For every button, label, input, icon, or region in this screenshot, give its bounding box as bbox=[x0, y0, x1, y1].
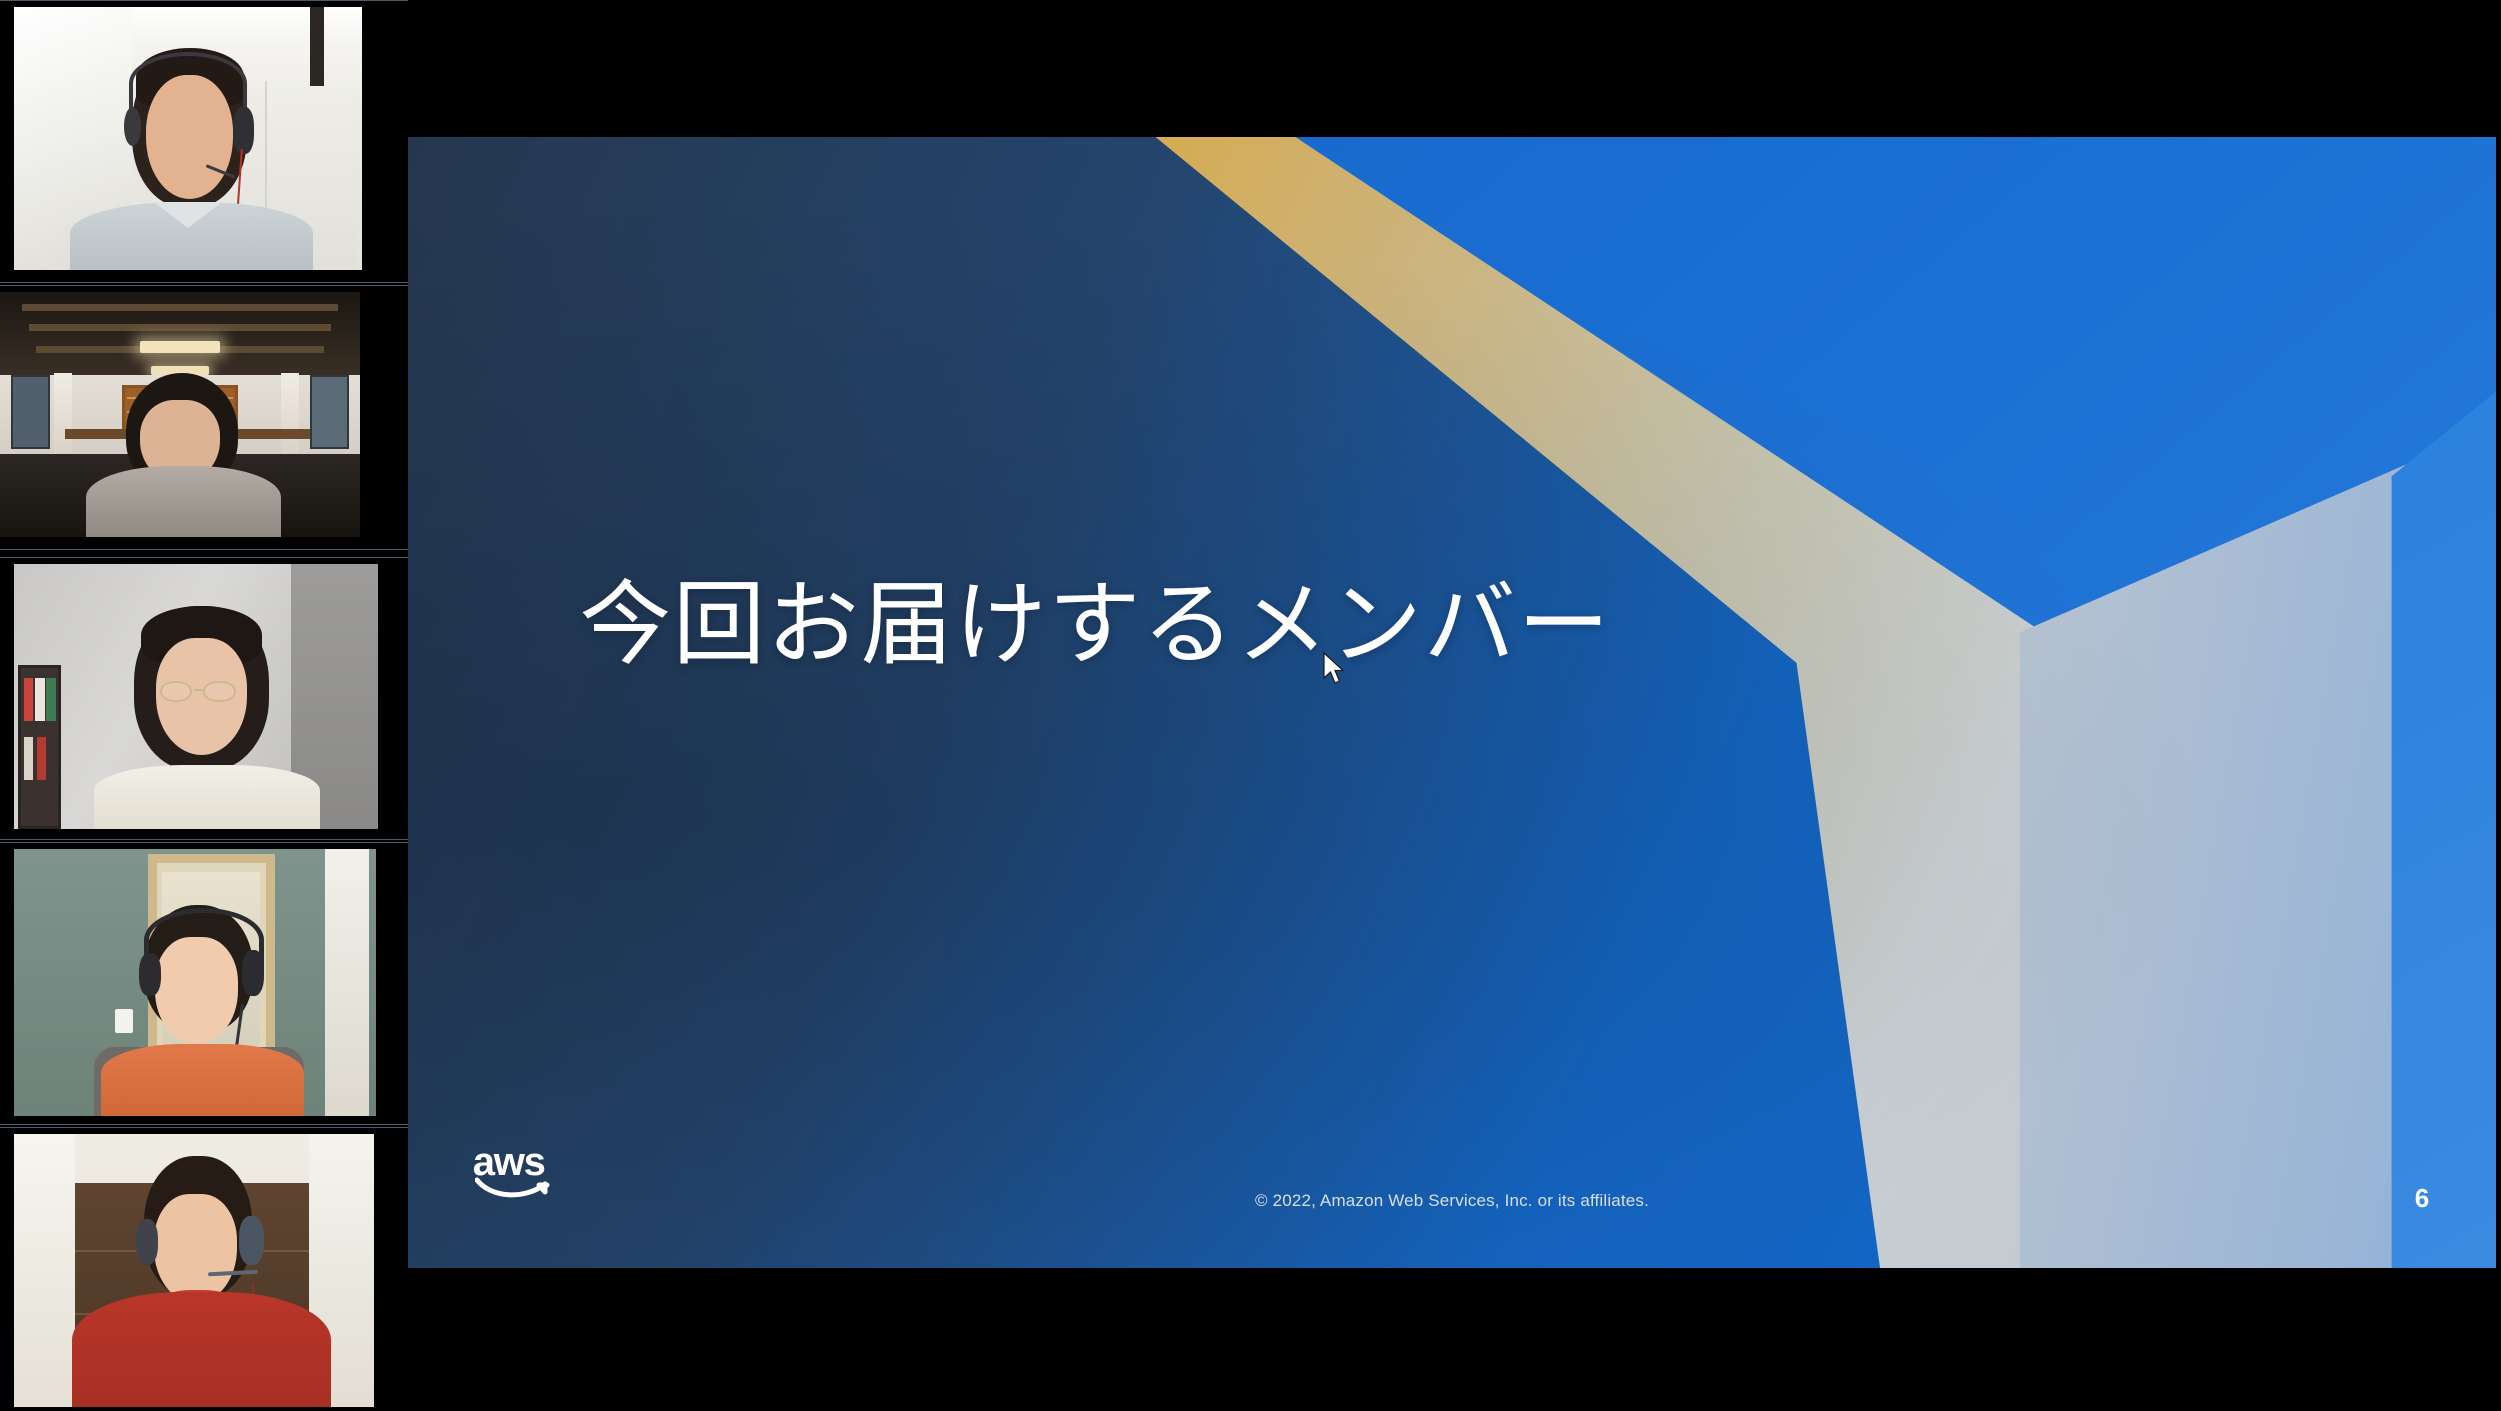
participant-tile-3[interactable] bbox=[0, 557, 408, 840]
participant-tile-2[interactable] bbox=[0, 285, 408, 550]
screen-root: 今回お届けするメンバー aws © 2022, Amazon Web Servi… bbox=[0, 0, 2501, 1411]
slide-copyright: © 2022, Amazon Web Services, Inc. or its… bbox=[408, 1191, 2496, 1211]
participant-tile-4[interactable] bbox=[0, 842, 408, 1125]
participant-video-2 bbox=[0, 286, 408, 549]
shared-slide[interactable]: 今回お届けするメンバー aws © 2022, Amazon Web Servi… bbox=[408, 137, 2496, 1268]
participant-video-4 bbox=[0, 843, 408, 1124]
participant-video-3 bbox=[0, 558, 408, 839]
slide-title: 今回お届けするメンバー bbox=[579, 550, 1611, 683]
participant-tile-5[interactable] bbox=[0, 1127, 408, 1411]
slide-page-number: 6 bbox=[2415, 1183, 2429, 1214]
participant-video-5 bbox=[0, 1128, 408, 1411]
participant-tile-1[interactable] bbox=[0, 0, 408, 283]
participant-video-1 bbox=[0, 1, 408, 282]
participant-video-strip[interactable] bbox=[0, 0, 408, 1411]
